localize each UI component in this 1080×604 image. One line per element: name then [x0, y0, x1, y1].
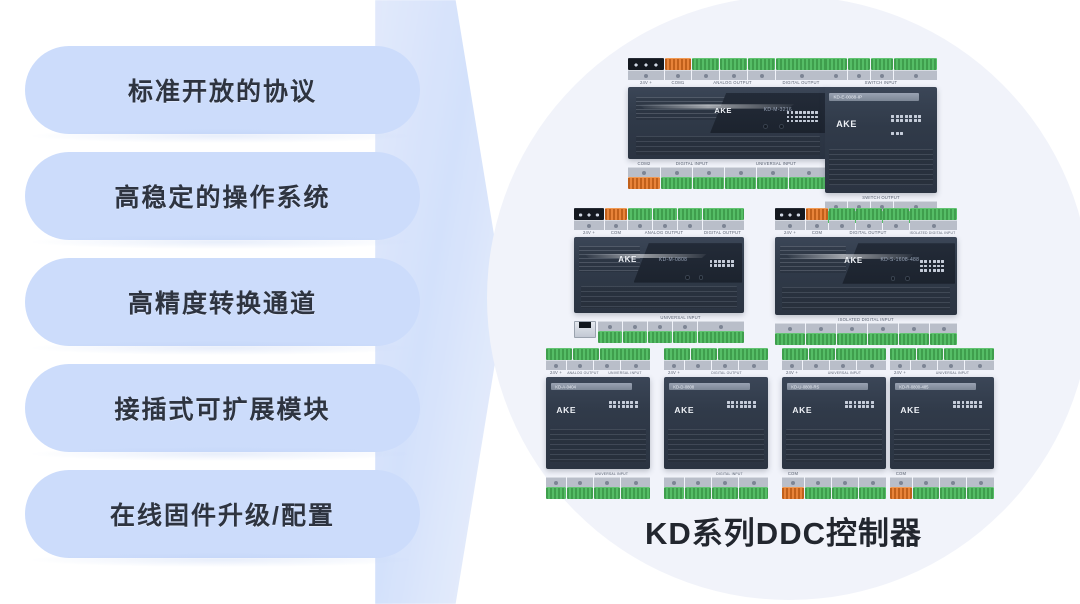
- green-terminal: [776, 58, 828, 70]
- green-terminal: [718, 348, 768, 360]
- power-terminal: [605, 208, 627, 220]
- green-terminal: [944, 348, 994, 360]
- led-block-top: [775, 208, 805, 220]
- device-expansion-module-tall[interactable]: SWITCH INPUT KD-E-0088-IP AKE SWITCH OUT…: [825, 58, 937, 223]
- terminal-label: ANALOG OUTPUT: [567, 370, 599, 376]
- product-caption: KD系列DDC控制器: [487, 508, 1080, 553]
- terminal-label: 24V +: [890, 370, 910, 376]
- model-label-strip: KD-U-0800-RS: [787, 383, 868, 390]
- terminal-label: 24V +: [628, 80, 664, 86]
- device-main-controller-large[interactable]: 24V + COM1 ANALOG OUTPUT DIGITAL OUTPUT …: [628, 58, 828, 189]
- green-terminal: [899, 333, 929, 345]
- rotary-dial[interactable]: [891, 276, 896, 281]
- terminal-labels-top: 24V + UNIVERSAL INPUT: [890, 370, 994, 376]
- green-terminal: [913, 487, 939, 499]
- green-terminal: [910, 208, 957, 220]
- model-number: KD-U-0800-RS: [791, 384, 819, 389]
- model-number: KD-M-0808: [659, 257, 687, 263]
- green-terminal: [782, 348, 808, 360]
- green-terminal: [567, 487, 593, 499]
- terminal-labels-top: SWITCH INPUT: [825, 80, 937, 86]
- terminal-row-top: [546, 348, 650, 360]
- green-terminal: [692, 58, 719, 70]
- green-terminal: [871, 58, 893, 70]
- status-leds: [953, 401, 982, 408]
- green-terminal: [546, 487, 566, 499]
- green-terminal: [809, 348, 835, 360]
- led-block-top: [628, 58, 664, 70]
- screw-row-top: [825, 70, 937, 80]
- terminal-labels-top: 24V + COM ANALOG OUTPUT DIGITAL OUTPUT: [574, 230, 744, 236]
- green-terminal: [832, 487, 858, 499]
- screw-row-bottom: [664, 477, 768, 487]
- brand-logo: AKE: [900, 405, 920, 415]
- terminal-label: 24V +: [574, 230, 604, 236]
- screw-row-top: [546, 360, 650, 370]
- device-body: AKE KD-S-1608-488: [775, 237, 957, 315]
- terminal-labels-top: 24V + UNIVERSAL INPUT: [782, 370, 886, 376]
- green-terminal: [883, 208, 909, 220]
- green-terminal: [825, 58, 847, 70]
- green-terminal: [598, 331, 622, 343]
- feature-pill-5[interactable]: 在线固件升级/配置: [25, 470, 420, 558]
- terminal-label: COM1: [665, 80, 691, 86]
- green-terminal: [775, 333, 805, 345]
- screw-row-bottom: [628, 167, 828, 177]
- device-body: AKE KD-M-3216: [628, 87, 828, 159]
- green-terminal: [648, 331, 672, 343]
- terminal-row-top: [664, 348, 768, 360]
- device-controller-mid-left[interactable]: 24V + COM ANALOG OUTPUT DIGITAL OUTPUT A…: [574, 208, 744, 343]
- terminal-row-top: [628, 58, 828, 70]
- feature-pill-4[interactable]: 接插式可扩展模块: [25, 364, 420, 452]
- brand-logo: AKE: [618, 255, 637, 264]
- green-terminal: [664, 348, 690, 360]
- terminal-label: COM: [806, 230, 828, 236]
- terminal-label: DIGITAL OUTPUT: [701, 230, 744, 236]
- power-terminal: [665, 58, 691, 70]
- terminal-label: UNIVERSAL INPUT: [911, 370, 994, 376]
- rotary-dial[interactable]: [905, 276, 910, 281]
- status-leds: [891, 115, 921, 123]
- green-terminal: [848, 58, 870, 70]
- feature-pill-label: 高稳定的操作系统: [114, 178, 330, 214]
- terminal-row-top: [775, 208, 957, 220]
- terminal-label: COM: [605, 230, 627, 236]
- green-terminal: [673, 331, 697, 343]
- green-terminal: [748, 58, 775, 70]
- status-leds: [609, 401, 638, 408]
- green-terminal: [739, 487, 768, 499]
- green-terminal: [868, 333, 898, 345]
- terminal-label: DIGITAL OUTPUT: [829, 230, 907, 236]
- screw-row-top: [775, 220, 957, 230]
- green-terminal: [712, 487, 738, 499]
- model-label-strip: KD-D-0808: [669, 383, 750, 390]
- terminal-row-bottom: [628, 177, 828, 189]
- green-terminal: [890, 348, 916, 360]
- feature-list: 标准开放的协议 高稳定的操作系统 高精度转换通道 接插式可扩展模块 在线固件升级…: [25, 46, 420, 558]
- green-terminal: [628, 208, 652, 220]
- device-module-bottom-1[interactable]: 24V + ANALOG OUTPUT UNIVERSAL INPUT KD-A…: [546, 348, 650, 499]
- device-module-bottom-2[interactable]: 24V + DIGITAL OUTPUT KD-D-0808 AKE: [664, 348, 768, 499]
- green-terminal: [685, 487, 711, 499]
- device-module-bottom-3[interactable]: 24V + UNIVERSAL INPUT KD-U-0800-RS AKE C: [782, 348, 886, 499]
- terminal-row-bottom: [598, 331, 744, 343]
- terminal-row-bottom: [546, 487, 650, 499]
- screw-row-bottom: [598, 321, 744, 331]
- green-terminal: [829, 208, 855, 220]
- green-terminal: [600, 348, 650, 360]
- model-number: KD-D-0808: [673, 384, 694, 389]
- terminal-label: UNIVERSAL INPUT: [600, 370, 650, 376]
- rotary-dial[interactable]: [699, 275, 704, 280]
- brand-logo: AKE: [792, 405, 812, 415]
- green-terminal: [720, 58, 747, 70]
- model-number: KD-E-0088-IP: [833, 95, 862, 100]
- terminal-label: DIGITAL OUTPUT: [685, 370, 768, 376]
- terminal-row-top: [825, 58, 937, 70]
- terminal-row-bottom: [775, 333, 957, 345]
- device-body: KD-E-0088-IP AKE: [825, 87, 937, 193]
- orange-terminal: [782, 487, 804, 499]
- feature-pill-2[interactable]: 高稳定的操作系统: [25, 152, 420, 240]
- green-terminal: [917, 348, 943, 360]
- green-terminal: [703, 208, 744, 220]
- screw-row-bottom: [890, 477, 994, 487]
- terminal-labels-top: 24V + ANALOG OUTPUT UNIVERSAL INPUT: [546, 370, 650, 376]
- green-terminal: [967, 487, 994, 499]
- brand-logo: AKE: [714, 106, 732, 115]
- green-terminal: [573, 348, 599, 360]
- orange-terminal: [890, 487, 912, 499]
- green-terminal: [546, 348, 572, 360]
- feature-pill-1[interactable]: 标准开放的协议: [25, 46, 420, 134]
- green-terminal: [698, 331, 744, 343]
- terminal-labels-top: 24V + DIGITAL OUTPUT: [664, 370, 768, 376]
- rotary-dial[interactable]: [685, 275, 690, 280]
- screw-row-top: [782, 360, 886, 370]
- green-terminal: [789, 177, 828, 189]
- green-terminal: [691, 348, 717, 360]
- device-controller-mid-right[interactable]: 24V + COM DIGITAL OUTPUT ISOLATED DIGITA…: [775, 208, 957, 345]
- feature-pill-label: 接插式可扩展模块: [114, 390, 330, 426]
- green-terminal: [806, 333, 836, 345]
- brand-logo: AKE: [674, 405, 694, 415]
- green-terminal: [623, 331, 647, 343]
- screw-row-top: [574, 220, 744, 230]
- ethernet-port[interactable]: [574, 321, 596, 338]
- power-terminal: [806, 208, 828, 220]
- terminal-label: 24V +: [782, 370, 802, 376]
- green-terminal: [664, 487, 684, 499]
- status-leds-secondary: [891, 132, 903, 135]
- terminal-label: UNIVERSAL INPUT: [803, 370, 886, 376]
- green-terminal: [725, 177, 756, 189]
- model-label-strip: KD-R-0800-485: [895, 383, 976, 390]
- model-label-strip: KD-E-0088-IP: [829, 93, 919, 101]
- orange-terminal: [628, 177, 660, 189]
- screw-row-top: [890, 360, 994, 370]
- terminal-label: DIGITAL OUTPUT: [774, 80, 828, 86]
- brand-logo: AKE: [836, 119, 857, 129]
- status-leds: [845, 401, 874, 408]
- device-body: AKE KD-M-0808: [574, 237, 744, 313]
- product-photo-group: 24V + COM1 ANALOG OUTPUT DIGITAL OUTPUT …: [487, 0, 1080, 604]
- green-terminal: [678, 208, 702, 220]
- screw-row-bottom: [546, 477, 650, 487]
- terminal-labels-top: 24V + COM DIGITAL OUTPUT ISOLATED DIGITA…: [775, 230, 957, 236]
- terminal-row-bottom: [782, 487, 886, 499]
- green-terminal: [837, 333, 867, 345]
- green-terminal: [661, 177, 692, 189]
- green-terminal: [594, 487, 620, 499]
- infographic-canvas: 标准开放的协议 高稳定的操作系统 高精度转换通道 接插式可扩展模块 在线固件升级…: [0, 0, 1080, 604]
- terminal-row-bottom: [664, 487, 768, 499]
- terminal-row-top: [782, 348, 886, 360]
- green-terminal: [836, 348, 886, 360]
- screw-row-top: [628, 70, 828, 80]
- device-body: KD-A-0404 AKE: [546, 377, 650, 469]
- green-terminal: [805, 487, 831, 499]
- terminal-labels-top: 24V + COM1 ANALOG OUTPUT DIGITAL OUTPUT: [628, 80, 828, 86]
- terminal-label: ANALOG OUTPUT: [692, 80, 773, 86]
- green-terminal: [757, 177, 788, 189]
- terminal-row-top: [574, 208, 744, 220]
- status-leds: [710, 260, 734, 267]
- model-number: KD-R-0800-485: [899, 384, 928, 389]
- terminal-label: 24V +: [664, 370, 684, 376]
- screw-row-bottom: [782, 477, 886, 487]
- terminal-row-bottom: [890, 487, 994, 499]
- device-module-bottom-4[interactable]: 24V + UNIVERSAL INPUT KD-R-0800-485 AKE: [890, 348, 994, 499]
- brand-logo: AKE: [556, 405, 576, 415]
- green-terminal: [894, 58, 937, 70]
- status-leds: [787, 111, 818, 122]
- model-number: KD-S-1608-488: [881, 257, 920, 263]
- brand-logo: AKE: [844, 256, 863, 265]
- terminal-label: ISOLATED DIGITAL INPUT: [908, 230, 957, 236]
- model-label-strip: KD-A-0404: [551, 383, 632, 390]
- green-terminal: [930, 333, 957, 345]
- screw-row-top: [664, 360, 768, 370]
- terminal-label: 24V +: [775, 230, 805, 236]
- terminal-label: SWITCH INPUT: [825, 80, 937, 86]
- device-body: KD-R-0800-485 AKE: [890, 377, 994, 469]
- feature-pill-label: 标准开放的协议: [128, 72, 317, 108]
- green-terminal: [859, 487, 886, 499]
- screw-row-bottom: [775, 323, 957, 333]
- feature-pill-label: 高精度转换通道: [128, 284, 317, 320]
- terminal-label: ANALOG OUTPUT: [628, 230, 700, 236]
- green-terminal: [693, 177, 724, 189]
- device-body: KD-U-0800-RS AKE: [782, 377, 886, 469]
- model-number: KD-A-0404: [555, 384, 576, 389]
- feature-pill-3[interactable]: 高精度转换通道: [25, 258, 420, 346]
- status-leds: [727, 401, 756, 408]
- feature-pill-label: 在线固件升级/配置: [110, 496, 335, 532]
- green-terminal: [621, 487, 650, 499]
- led-block-top: [574, 208, 604, 220]
- green-terminal: [653, 208, 677, 220]
- device-body: KD-D-0808 AKE: [664, 377, 768, 469]
- terminal-row-top: [890, 348, 994, 360]
- status-leds: [920, 260, 944, 271]
- green-terminal: [856, 208, 882, 220]
- green-terminal: [940, 487, 966, 499]
- terminal-label: 24V +: [546, 370, 566, 376]
